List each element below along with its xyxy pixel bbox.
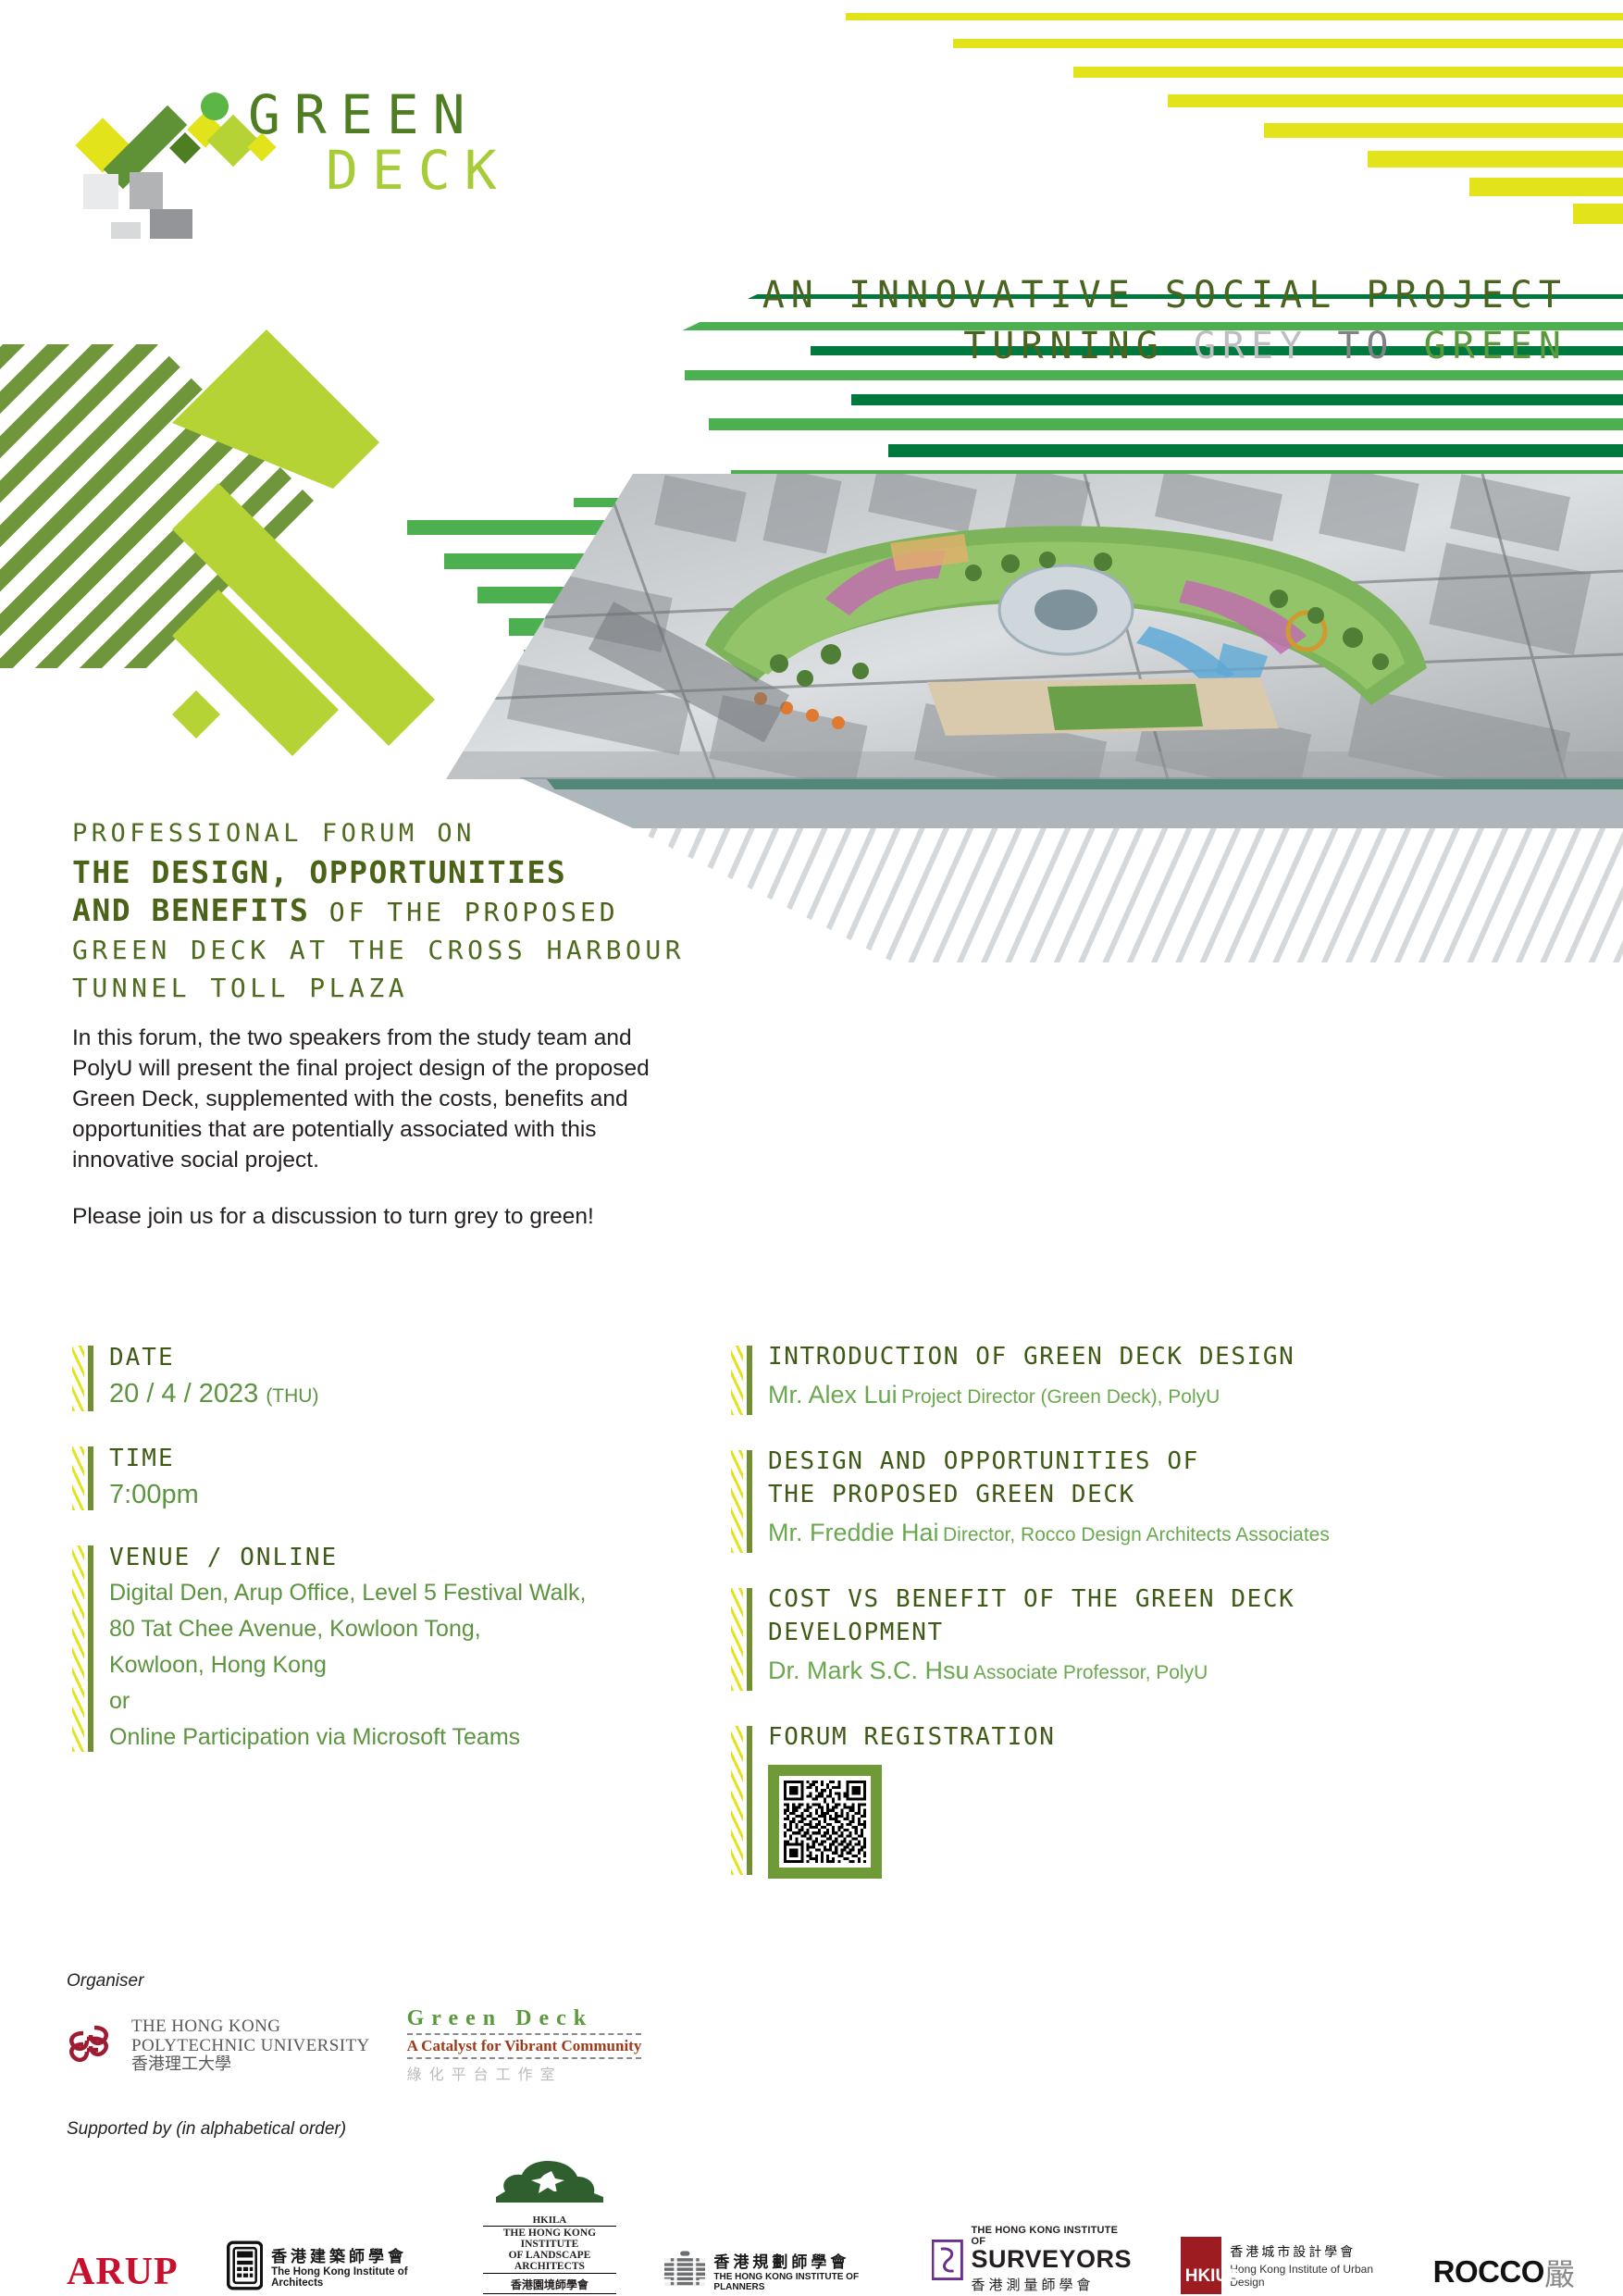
- supporter-logos: ARUP 香港建築師學會 The Hong Kong Institute of …: [67, 2160, 1575, 2294]
- organiser-label: Organiser: [67, 1971, 1575, 1992]
- forum-pretitle: PROFESSIONAL FORUM ON: [72, 814, 812, 853]
- gd-workshop-tagline: A Catalyst for Vibrant Community: [407, 2035, 642, 2059]
- detail-time: TIME 7:00pm: [72, 1441, 683, 1514]
- hkila-name-line2: OF LANDSCAPE ARCHITECTS: [483, 2250, 616, 2272]
- hkis-emblem-icon: [932, 2240, 962, 2280]
- footer: Organiser THE HONG KONG POLYTECHNIC UNIV…: [67, 1971, 1575, 2294]
- programme-title: INTRODUCTION OF GREEN DECK DESIGN: [768, 1340, 1564, 1373]
- speaker-role: Associate Professor, PolyU: [973, 1662, 1208, 1683]
- body-paragraph-2: Please join us for a discussion to turn …: [72, 1201, 669, 1232]
- yellow-bar: [846, 13, 1623, 20]
- speaker-name: Dr. Mark S.C. Hsu: [768, 1657, 970, 1684]
- time-label: TIME: [109, 1441, 683, 1476]
- yellow-bar: [1573, 204, 1623, 224]
- tagline: AN INNOVATIVE SOCIAL PROJECT TURNING GRE…: [762, 270, 1567, 372]
- polyu-chinese: 香港理工大學: [131, 2055, 370, 2074]
- tagline-turning: TURNING: [963, 325, 1165, 367]
- yellow-bar: [1264, 123, 1623, 138]
- hkila-chinese: 香港園境師學會: [483, 2277, 616, 2294]
- hkip-english: THE HONG KONG INSTITUTE OF PLANNERS: [713, 2272, 884, 2292]
- gd-workshop-title: Green Deck: [407, 2006, 642, 2035]
- programme-title: DESIGN AND OPPORTUNITIES OF: [768, 1445, 1564, 1478]
- organiser-logos: THE HONG KONG POLYTECHNIC UNIVERSITY 香港理…: [67, 2006, 1575, 2084]
- registration-block: FORUM REGISTRATION: [731, 1720, 1564, 1879]
- striped-marker: [731, 1450, 755, 1553]
- tagline-to: TO: [1337, 325, 1394, 367]
- polyu-text: THE HONG KONG POLYTECHNIC UNIVERSITY 香港理…: [131, 2017, 370, 2075]
- forum-title-bold2: AND BENEFITS: [72, 892, 309, 928]
- hkia-english: The Hong Kong Institute of Architects: [271, 2266, 435, 2289]
- supporter-hkila: HKILA THE HONG KONG INSTITUTE OF LANDSCA…: [483, 2160, 616, 2294]
- yellow-bar: [1168, 94, 1623, 107]
- hkiud-chinese: 香港城市設計學會: [1230, 2242, 1384, 2261]
- body-paragraph-1: In this forum, the two speakers from the…: [72, 1023, 669, 1175]
- tagline-green: GREEN: [1424, 325, 1567, 367]
- detail-venue: VENUE / ONLINE Digital Den, Arup Office,…: [72, 1540, 683, 1756]
- logo-mark: [74, 54, 333, 239]
- polyu-line-2: POLYTECHNIC UNIVERSITY: [131, 2036, 370, 2055]
- programme-speaker: Dr. Mark S.C. Hsu Associate Professor, P…: [768, 1651, 1564, 1694]
- supporter-hkiud: HKIUD 香港城市設計學會 Hong Kong Institute of Ur…: [1181, 2237, 1385, 2294]
- qr-code-icon: [784, 1781, 866, 1863]
- speaker-name: Mr. Freddie Hai: [768, 1519, 939, 1546]
- rocco-chinese: 嚴: [1544, 2250, 1575, 2294]
- supporter-arup: ARUP: [67, 2250, 179, 2294]
- programme-item: COST VS BENEFIT OF THE GREEN DECK DEVELO…: [731, 1582, 1564, 1694]
- striped-marker: [72, 1446, 96, 1510]
- tagline-grey: GREY: [1194, 325, 1308, 367]
- hkia-seal-icon: [227, 2237, 263, 2294]
- speaker-name: Mr. Alex Lui: [768, 1381, 898, 1409]
- logo-wordmark-deck: DECK: [326, 139, 511, 202]
- registration-label: FORUM REGISTRATION: [768, 1720, 1564, 1754]
- tagline-line-1: AN INNOVATIVE SOCIAL PROJECT: [762, 270, 1567, 321]
- polyu-emblem-icon: [67, 2018, 120, 2072]
- yellow-bar: [1469, 178, 1623, 196]
- striped-marker: [72, 1545, 96, 1752]
- body-copy: In this forum, the two speakers from the…: [72, 1023, 669, 1232]
- striped-marker: [731, 1726, 755, 1875]
- venue-line-5: Online Participation via Microsoft Teams: [109, 1719, 683, 1756]
- hkila-tree-icon: [485, 2160, 614, 2210]
- hkila-name: THE HONG KONG INSTITUTE OF LANDSCAPE ARC…: [483, 2226, 616, 2274]
- green-deck-workshop-logo: Green Deck A Catalyst for Vibrant Commun…: [407, 2006, 642, 2084]
- supporter-hkip: 香港規劃師學會 THE HONG KONG INSTITUTE OF PLANN…: [664, 2246, 884, 2294]
- supporter-rocco: ROCCO 嚴: [1433, 2250, 1575, 2294]
- striped-marker: [731, 1588, 755, 1691]
- event-details-column: DATE 20 / 4 / 2023 (THU) TIME 7:00pm VEN…: [72, 1340, 683, 1781]
- programme-column: INTRODUCTION OF GREEN DECK DESIGN Mr. Al…: [731, 1340, 1564, 1905]
- rocco-wordmark: ROCCO: [1433, 2254, 1544, 2290]
- forum-title-line2: AND BENEFITS OF THE PROPOSED: [72, 891, 812, 931]
- date-weekday: (THU): [266, 1385, 318, 1407]
- logo-wordmark-green: GREEN: [248, 83, 479, 146]
- speaker-role: Project Director (Green Deck), PolyU: [901, 1386, 1220, 1408]
- date-label: DATE: [109, 1340, 683, 1375]
- hkiud-text: 香港城市設計學會 Hong Kong Institute of Urban De…: [1230, 2242, 1384, 2289]
- yellow-bar: [1368, 151, 1623, 168]
- tagline-line-2: TURNING GREY TO GREEN: [762, 321, 1567, 372]
- hkip-figure-icon: [664, 2246, 706, 2294]
- striped-marker: [731, 1346, 755, 1415]
- date-value-text: 20 / 4 / 2023: [109, 1379, 258, 1409]
- arup-wordmark: ARUP: [67, 2250, 179, 2294]
- striped-marker: [72, 1346, 96, 1411]
- speaker-role: Director, Rocco Design Architects Associ…: [943, 1524, 1330, 1545]
- programme-title-cont: DEVELOPMENT: [768, 1616, 1564, 1649]
- supporter-hkis: THE HONG KONG INSTITUTE OF SURVEYORS 香港測…: [932, 2225, 1133, 2294]
- date-value: 20 / 4 / 2023 (THU): [109, 1375, 683, 1415]
- aerial-render-photo: [437, 474, 1623, 779]
- venue-line-4: or: [109, 1683, 683, 1719]
- venue-label: VENUE / ONLINE: [109, 1540, 683, 1575]
- hkiud-english: Hong Kong Institute of Urban Design: [1230, 2263, 1384, 2289]
- supported-by-label: Supported by (in alphabetical order): [67, 2119, 1575, 2140]
- forum-title-line3: GREEN DECK AT THE CROSS HARBOUR: [72, 931, 812, 969]
- yellow-bar: [953, 39, 1623, 48]
- hkis-top: THE HONG KONG INSTITUTE OF: [972, 2225, 1133, 2247]
- programme-title-cont: THE PROPOSED GREEN DECK: [768, 1478, 1564, 1511]
- hkiud-abbr: HKIUD: [1185, 2266, 1241, 2287]
- yellow-bar: [1073, 67, 1623, 78]
- venue-line-3: Kowloon, Hong Kong: [109, 1647, 683, 1683]
- gd-workshop-chinese: 綠化平台工作室: [407, 2059, 642, 2084]
- forum-title-light2: OF THE PROPOSED: [329, 897, 619, 927]
- hkila-abbr: HKILA: [483, 2215, 616, 2226]
- forum-title-line1: THE DESIGN, OPPORTUNITIES: [72, 853, 812, 891]
- polyu-line-1: THE HONG KONG: [131, 2017, 370, 2036]
- hkis-chinese: 香港測量師學會: [972, 2275, 1133, 2294]
- tagline-line1-text: AN INNOVATIVE SOCIAL PROJECT: [762, 274, 1567, 316]
- supporter-hkia: 香港建築師學會 The Hong Kong Institute of Archi…: [227, 2237, 435, 2294]
- programme-title: COST VS BENEFIT OF THE GREEN DECK: [768, 1582, 1564, 1616]
- qr-code[interactable]: [768, 1765, 882, 1879]
- hkip-chinese: 香港規劃師學會: [713, 2249, 884, 2272]
- hkia-chinese: 香港建築師學會: [271, 2243, 435, 2266]
- hkis-name: SURVEYORS: [972, 2247, 1133, 2272]
- detail-date: DATE 20 / 4 / 2023 (THU): [72, 1340, 683, 1415]
- hkiud-mark-icon: HKIUD: [1181, 2237, 1222, 2294]
- programme-speaker: Mr. Alex Lui Project Director (Green Dec…: [768, 1375, 1564, 1419]
- programme-speaker: Mr. Freddie Hai Director, Rocco Design A…: [768, 1513, 1564, 1557]
- forum-title-line4: TUNNEL TOLL PLAZA: [72, 969, 812, 1007]
- polyu-logo: THE HONG KONG POLYTECHNIC UNIVERSITY 香港理…: [67, 2017, 370, 2075]
- forum-title-block: PROFESSIONAL FORUM ON THE DESIGN, OPPORT…: [72, 814, 812, 1007]
- programme-item: DESIGN AND OPPORTUNITIES OF THE PROPOSED…: [731, 1445, 1564, 1557]
- venue-line-1: Digital Den, Arup Office, Level 5 Festiv…: [109, 1575, 683, 1611]
- time-value: 7:00pm: [109, 1476, 683, 1514]
- hkila-name-line1: THE HONG KONG INSTITUTE: [483, 2228, 616, 2250]
- venue-line-2: 80 Tat Chee Avenue, Kowloon Tong,: [109, 1611, 683, 1647]
- green-deck-logo: GREEN DECK: [56, 37, 703, 250]
- programme-item: INTRODUCTION OF GREEN DECK DESIGN Mr. Al…: [731, 1340, 1564, 1419]
